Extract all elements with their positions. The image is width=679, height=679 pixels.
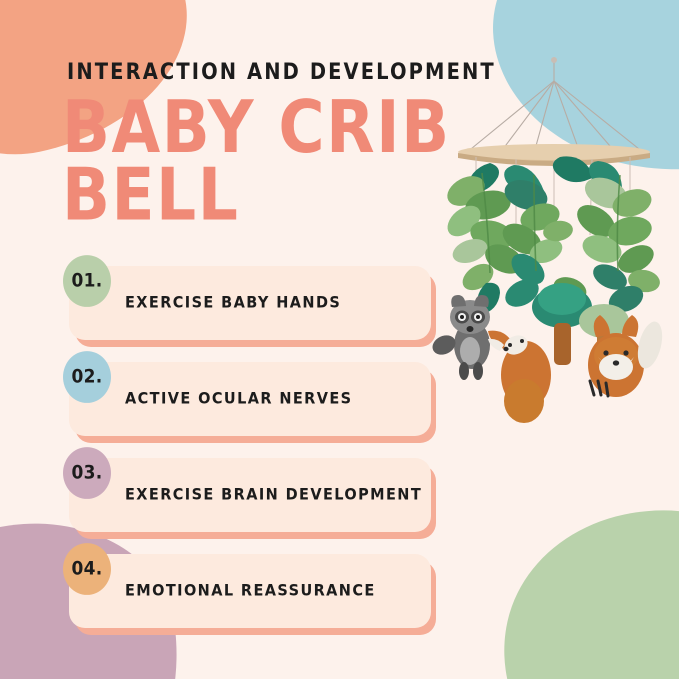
bottom-right-blob (481, 484, 679, 679)
feature-card[interactable]: EMOTIONAL REASSURANCE (69, 554, 431, 628)
feature-label: EMOTIONAL REASSURANCE (125, 582, 376, 600)
list-item[interactable]: EXERCISE BABY HANDS 01. (63, 266, 431, 340)
felt-raccoon (430, 295, 490, 380)
list-item[interactable]: EMOTIONAL REASSURANCE 04. (63, 554, 431, 628)
feature-number-badge: 02. (63, 351, 111, 403)
feature-number-badge: 04. (63, 543, 111, 595)
product-photo-crib-mobile (430, 45, 679, 440)
felt-fox (588, 315, 666, 397)
feature-label: ACTIVE OCULAR NERVES (125, 390, 353, 408)
feature-label: EXERCISE BABY HANDS (125, 294, 341, 312)
feature-card[interactable]: ACTIVE OCULAR NERVES (69, 362, 431, 436)
list-item[interactable]: ACTIVE OCULAR NERVES 02. (63, 362, 431, 436)
poster-canvas: INTERACTION AND DEVELOPMENT BABY CRIB BE… (0, 0, 679, 679)
list-item[interactable]: EXERCISE BRAIN DEVELOPMENT 03. (63, 458, 431, 532)
feature-number-badge: 01. (63, 255, 111, 307)
feature-number-badge: 03. (63, 447, 111, 499)
felt-fox (488, 331, 551, 423)
feature-card[interactable]: EXERCISE BABY HANDS (69, 266, 431, 340)
feature-label: EXERCISE BRAIN DEVELOPMENT (125, 486, 422, 504)
feature-list: EXERCISE BABY HANDS 01. ACTIVE OCULAR NE… (63, 266, 431, 628)
page-title: BABY CRIB BELL (62, 95, 482, 229)
feature-card[interactable]: EXERCISE BRAIN DEVELOPMENT (69, 458, 431, 532)
